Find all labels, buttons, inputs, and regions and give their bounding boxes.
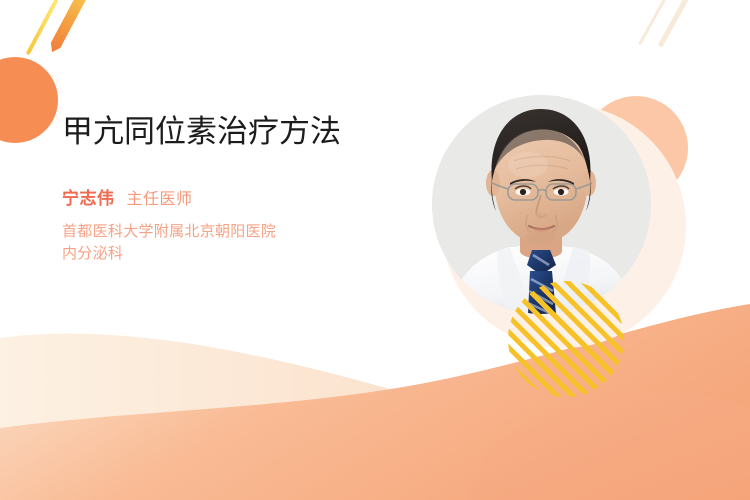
avatar (432, 95, 651, 314)
orange-slash-decor-icon (47, 0, 88, 55)
page-title: 甲亢同位素治疗方法 (62, 112, 402, 152)
outlined-slash-decor-b-icon (426, 415, 439, 439)
diagonal-stripe-circle-decor-icon (508, 281, 624, 397)
yellow-slash-decor-icon (26, 0, 59, 55)
doctor-credential-row: 宁志伟 主任医师 (62, 184, 402, 209)
doctor-photo-cluster (412, 78, 692, 378)
orange-circle-decor-icon (0, 57, 58, 143)
hospital-name: 首都医科大学附属北京朝阳医院 (62, 220, 402, 242)
doctor-rank: 主任医师 (127, 185, 193, 209)
faint-slash-decor-b-icon (658, 0, 691, 47)
outlined-slash-decor-icon (153, 362, 177, 398)
doctor-affiliation: 首都医科大学附属北京朝阳医院 内分泌科 (62, 220, 402, 264)
department-name: 内分泌科 (62, 242, 402, 264)
doctor-name: 宁志伟 (62, 184, 115, 209)
faint-slash-decor-a-icon (638, 0, 667, 45)
doctor-topic-card: 甲亢同位素治疗方法 宁志伟 主任医师 首都医科大学附属北京朝阳医院 内分泌科 (0, 0, 750, 500)
text-content-block: 甲亢同位素治疗方法 宁志伟 主任医师 首都医科大学附属北京朝阳医院 内分泌科 (62, 112, 402, 264)
doctor-portrait-image (432, 95, 651, 314)
